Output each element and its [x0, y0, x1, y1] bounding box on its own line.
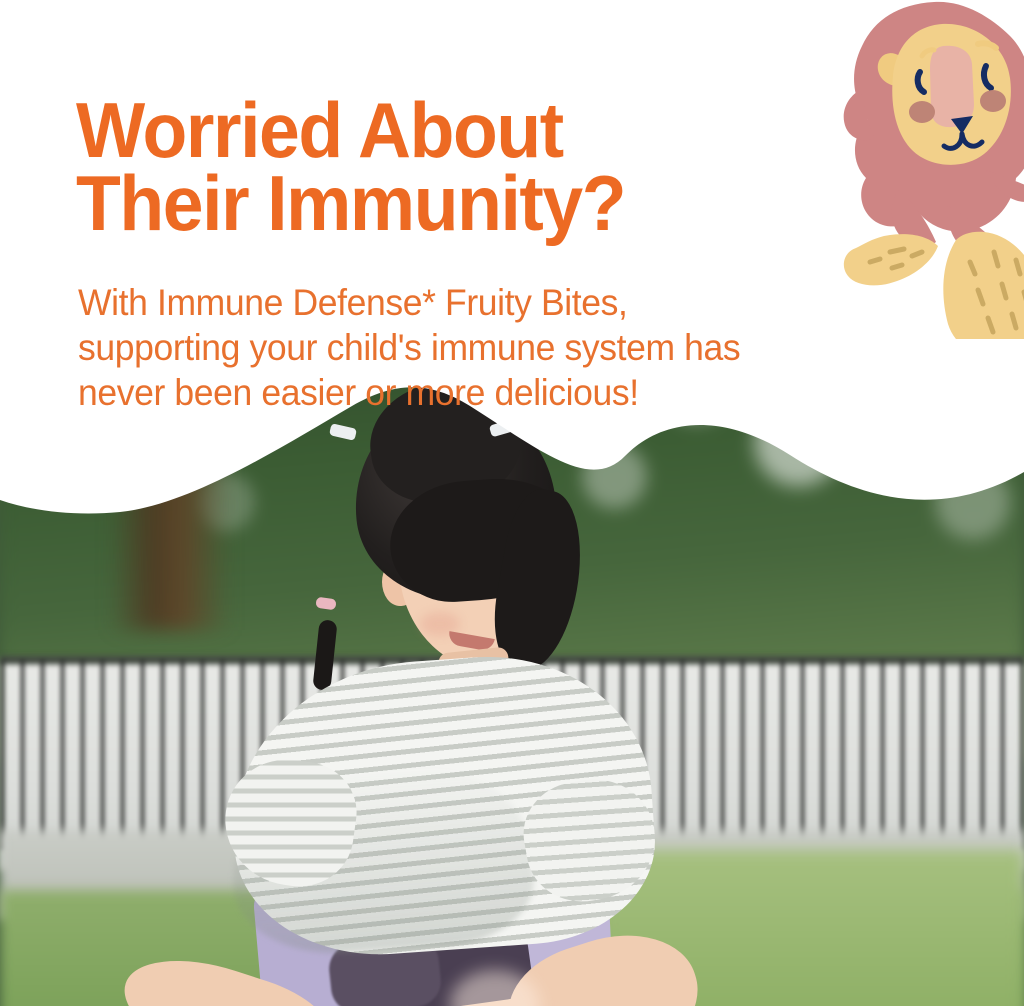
- lion-muzzle: [930, 46, 974, 127]
- lion-right-cheek: [980, 90, 1006, 112]
- playground-photo: [0, 330, 1024, 1006]
- headline: Worried About Their Immunity?: [76, 94, 847, 239]
- subheadline: With Immune Defense* Fruity Bites, suppo…: [78, 280, 875, 415]
- lion-left-cheek: [909, 101, 935, 123]
- banner-canvas: Worried About Their Immunity? With Immun…: [0, 0, 1024, 1006]
- lion-paw: [844, 234, 938, 285]
- lion-body: [943, 232, 1024, 339]
